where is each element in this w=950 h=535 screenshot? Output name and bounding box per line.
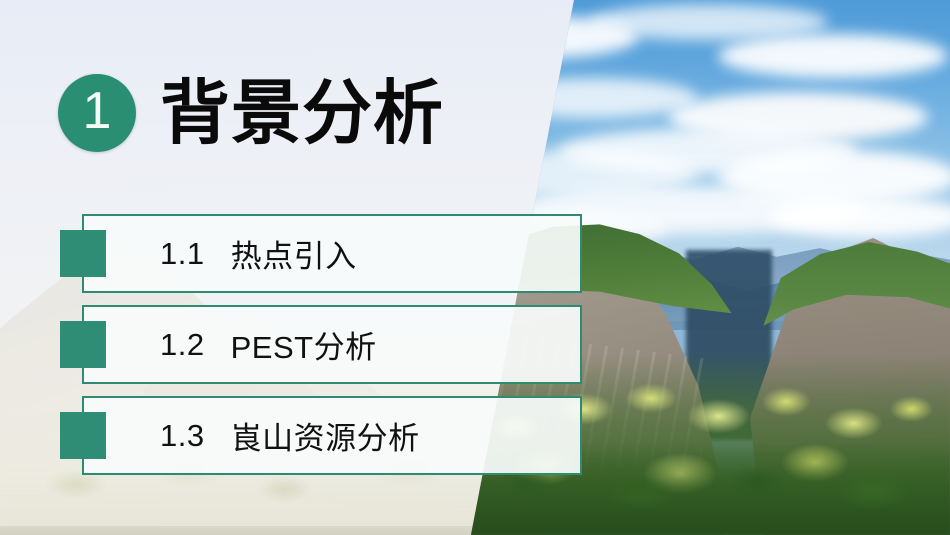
agenda-item-1[interactable]: 1.1 热点引入 — [82, 214, 512, 293]
section-number-label: 1 — [83, 85, 112, 137]
agenda-item-text: 1.2 PEST分析 — [160, 305, 377, 384]
agenda-item-number: 1.3 — [160, 418, 205, 454]
photo-cloud — [718, 34, 948, 78]
agenda-item-number: 1.2 — [160, 327, 205, 363]
agenda-item-label: PEST分析 — [231, 322, 377, 367]
page-title: 背景分析 — [160, 78, 444, 148]
agenda-item-text: 1.1 热点引入 — [160, 214, 357, 293]
agenda-item-label: 崀山资源分析 — [231, 413, 420, 458]
agenda-item-number: 1.1 — [160, 236, 205, 272]
bullet-square-icon — [60, 412, 106, 459]
slide-canvas: 1 背景分析 1.1 热点引入 1.2 PEST分析 1.3 — [0, 0, 950, 535]
agenda-item-3[interactable]: 1.3 崀山资源分析 — [82, 396, 512, 475]
agenda-item-label: 热点引入 — [231, 231, 357, 276]
section-number-badge: 1 — [58, 74, 136, 152]
slide-header: 1 背景分析 — [58, 74, 444, 152]
bullet-square-icon — [60, 230, 106, 277]
agenda-item-text: 1.3 崀山资源分析 — [160, 396, 420, 475]
agenda-list: 1.1 热点引入 1.2 PEST分析 1.3 崀山资源分析 — [82, 214, 512, 475]
agenda-item-2[interactable]: 1.2 PEST分析 — [82, 305, 512, 384]
bullet-square-icon — [60, 321, 106, 368]
